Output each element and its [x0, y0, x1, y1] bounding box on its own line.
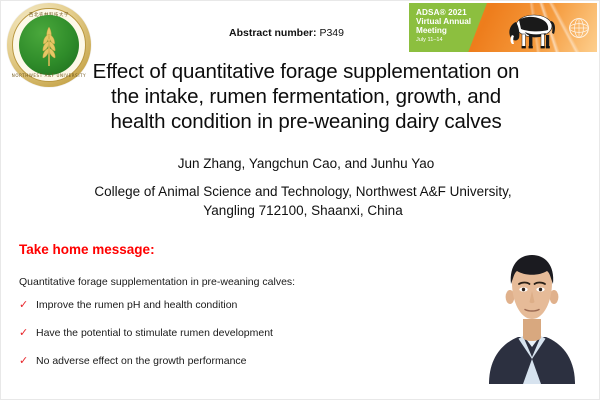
title-line-3: health condition in pre-weaning dairy ca…: [63, 109, 549, 134]
list-item: ✓ No adverse effect on the growth perfor…: [19, 355, 439, 383]
wheat-icon: [34, 25, 64, 67]
affiliation-line-1: College of Animal Science and Technology…: [43, 182, 563, 201]
banner-line-2: Virtual Annual: [416, 17, 471, 26]
check-icon: ✓: [19, 356, 29, 367]
take-home-bullet-list: ✓ Improve the rumen pH and health condit…: [19, 299, 439, 383]
check-icon: ✓: [19, 328, 29, 339]
abstract-number: Abstract number: P349: [229, 27, 344, 39]
banner-text-block: ADSA® 2021 Virtual Annual Meeting July 1…: [416, 8, 471, 43]
affiliation-line-2: Yangling 712100, Shaanxi, China: [43, 201, 563, 220]
page-title: Effect of quantitative forage supplement…: [63, 59, 549, 134]
author-list: Jun Zhang, Yangchun Cao, and Junhu Yao: [63, 156, 549, 171]
banner-dates: July 11–14: [416, 37, 471, 43]
take-home-message-heading: Take home message:: [19, 242, 155, 257]
list-item-label: Improve the rumen pH and health conditio…: [36, 299, 237, 311]
abstract-number-label: Abstract number:: [229, 27, 317, 39]
list-item: ✓ Improve the rumen pH and health condit…: [19, 299, 439, 327]
list-item: ✓ Have the potential to stimulate rumen …: [19, 327, 439, 355]
globe-icon: [568, 17, 590, 39]
title-line-2: the intake, rumen fermentation, growth, …: [63, 84, 549, 109]
presenter-portrait: [477, 239, 587, 384]
abstract-number-value: P349: [319, 27, 344, 39]
portrait-image: [477, 239, 587, 384]
banner-line-1: ADSA® 2021: [416, 8, 471, 17]
check-icon: ✓: [19, 300, 29, 311]
title-line-1: Effect of quantitative forage supplement…: [63, 59, 549, 84]
holstein-cow-icon: [501, 8, 563, 50]
adsa-meeting-banner: ADSA® 2021 Virtual Annual Meeting July 1…: [409, 3, 597, 52]
list-item-label: Have the potential to stimulate rumen de…: [36, 327, 273, 339]
banner-line-3: Meeting: [416, 26, 471, 35]
list-item-label: No adverse effect on the growth performa…: [36, 355, 247, 367]
affiliation: College of Animal Science and Technology…: [43, 182, 563, 220]
poster-slide: 西北农林科技大学 NORTHWEST A&F UNIVERSITY: [0, 0, 600, 400]
take-home-lead-text: Quantitative forage supplementation in p…: [19, 276, 295, 288]
